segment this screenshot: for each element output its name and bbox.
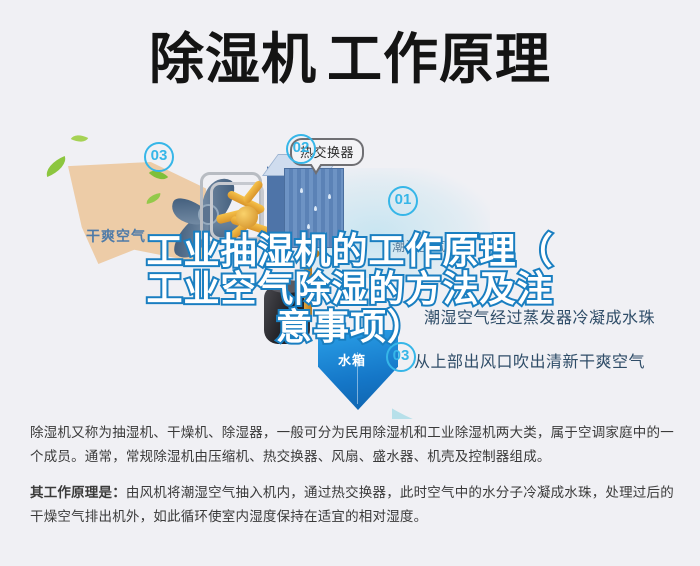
overlay-headline: 工业抽湿机的工作原理（ 工业空气除湿的方法及注 意事项） (0, 232, 700, 346)
page-title-part-a: 除湿机 (149, 28, 317, 90)
leaf-icon (71, 131, 88, 146)
step-badge-03-top: 03 (144, 142, 174, 172)
body-paragraph-2: 其工作原理是：由风机将潮湿空气抽入机内，通过热交换器，此时空气中的水分子冷凝成水… (30, 481, 674, 529)
copper-pipe-joint (236, 206, 258, 228)
article-body: 除湿机又称为抽湿机、干燥机、除湿器，一般可分为民用除湿机和工业除湿机两大类，属于… (30, 421, 674, 529)
page-root: 除湿机工作原理 干爽空气 (0, 0, 700, 566)
water-tank-label: 水箱 (338, 350, 366, 369)
step-badge-03-top-label: 03 (144, 142, 174, 172)
step-badge-02-label: 02 (286, 134, 316, 164)
condensation-drop-icon (307, 224, 310, 229)
condensation-drop-icon (328, 194, 331, 199)
page-title: 除湿机工作原理 (0, 26, 700, 92)
outlet-caption: 从上部出风口吹出清新干爽空气 (414, 348, 645, 372)
overlay-headline-line-2: 工业空气除湿的方法及注 (0, 270, 700, 308)
condensation-drop-icon (300, 188, 303, 193)
overlay-headline-line-3: 意事项） (0, 308, 700, 346)
body-paragraph-2-rest: 由风机将潮湿空气抽入机内，通过热交换器，此时空气中的水分子冷凝成水珠，处理过后的… (30, 485, 674, 524)
step-badge-01: 01 (388, 186, 418, 216)
step-badge-01-label: 01 (388, 186, 418, 216)
step-badge-02: 02 (286, 134, 316, 164)
page-title-part-b: 工作原理 (317, 28, 551, 90)
leaf-icon (42, 156, 69, 177)
body-paragraph-1: 除湿机又称为抽湿机、干燥机、除湿器，一般可分为民用除湿机和工业除湿机两大类，属于… (30, 421, 674, 469)
overlay-headline-line-1: 工业抽湿机的工作原理（ (0, 232, 700, 270)
body-paragraph-2-lead: 其工作原理是： (30, 485, 126, 500)
condensation-drop-icon (314, 206, 317, 211)
